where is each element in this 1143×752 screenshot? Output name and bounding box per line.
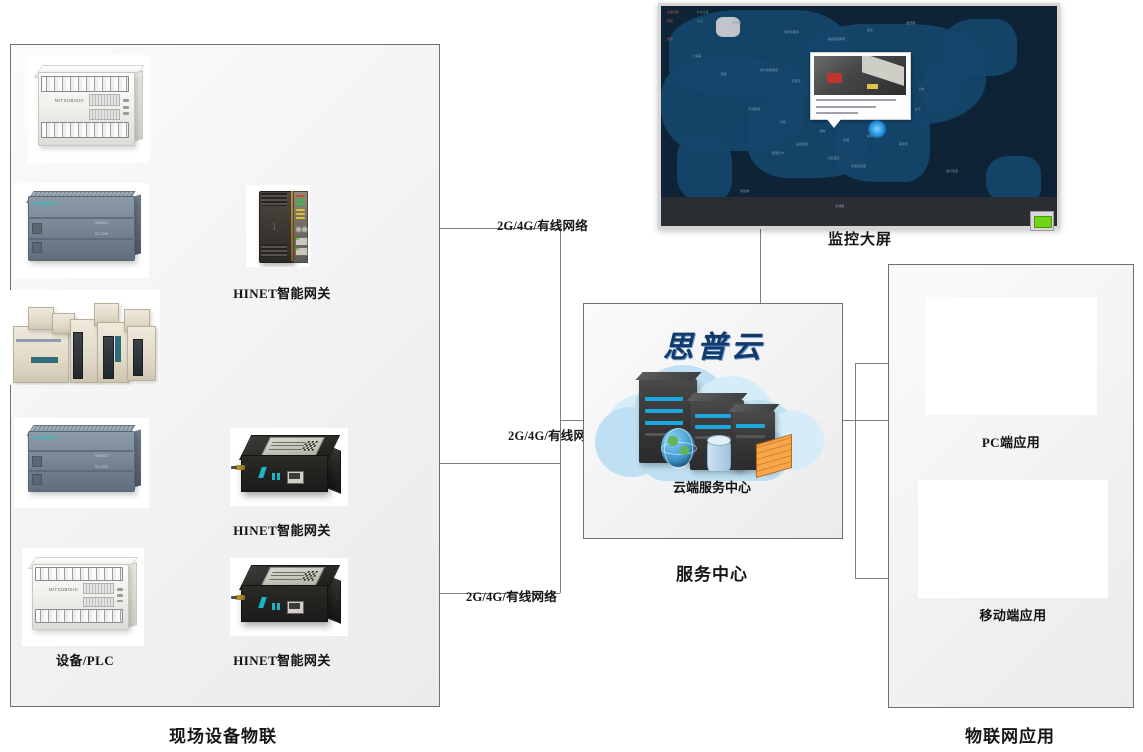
map-label: 伊朗: [720, 72, 726, 76]
map-label: 台湾: [914, 107, 920, 111]
map-label: 菲律宾: [899, 142, 908, 146]
device-photo-thumb: [814, 56, 905, 94]
cloud-brand-logo: 思普云: [655, 322, 773, 366]
gateway-router-bottom: [230, 558, 348, 636]
legend-online: 在线: [697, 19, 703, 23]
device-popup-card[interactable]: [810, 52, 911, 120]
monitoring-big-screen[interactable]: 设备总数 在线设备 离线 在线 报警 俄罗斯 哈萨克斯坦 乌兹别克斯坦 蒙古 俄…: [658, 3, 1060, 229]
map-label: 阿富汗: [792, 79, 801, 83]
map-label: 土耳其: [693, 54, 702, 58]
map-label: 俄罗斯: [907, 21, 916, 25]
legend-alarm: 报警: [667, 37, 673, 41]
device-plc-mitsubishi-bottom: MITSUBISHI: [22, 548, 144, 646]
device-plc-siemens-top: SIEMENS SIMATIC S7-1200: [14, 183, 149, 278]
diagram-canvas: MITSUBISHI SIEMENS SIMATIC S7-1200: [0, 0, 1143, 752]
legend-offline: 离线: [667, 19, 673, 23]
screen-bottom-strip: [661, 197, 1057, 226]
link-apps-vertical: [855, 363, 856, 578]
gateway-din-rail: 1: [246, 185, 310, 267]
map-label: 斯里兰卡: [772, 151, 784, 155]
map-label: 吉尔吉斯斯坦: [760, 68, 778, 72]
landmass-japan: [922, 63, 962, 111]
legend-device-total: 设备总数: [667, 10, 679, 14]
network-label-top: 2G/4G/有线网络: [497, 215, 588, 234]
map-label: 乌兹别克斯坦: [827, 37, 845, 41]
app-pc-illustration: [925, 297, 1097, 415]
gateway-router-bottom-label: HINET智能网关: [198, 650, 366, 669]
app-mobile-label: 移动端应用: [918, 605, 1108, 624]
gateway-router-mid-label: HINET智能网关: [198, 520, 366, 539]
app-pc-label: PC端应用: [925, 432, 1097, 451]
gateway-din-rail-label: HINET智能网关: [198, 283, 366, 302]
panel-field-caption: 现场设备物联: [78, 722, 368, 747]
landmass-africa-horn: [677, 134, 732, 200]
map-label: 蒙古: [867, 28, 873, 32]
device-servo-rack: [10, 290, 160, 385]
legend-device-online: 在线设备: [697, 10, 709, 14]
cloud-datacenter-label: 云端服务中心: [632, 477, 792, 496]
map-label: 印度: [780, 120, 786, 124]
map-label: 缅甸: [819, 129, 825, 133]
map-label: 哈萨克斯坦: [784, 30, 799, 34]
panel-apps-caption: 物联网应用: [890, 722, 1130, 747]
app-mobile-illustration: [918, 480, 1108, 598]
map-label: 巴基斯坦: [748, 107, 760, 111]
map-label: 澳大利亚: [946, 169, 958, 173]
map-label: 新加坡: [740, 189, 749, 193]
device-plc-mitsubishi-top: MITSUBISHI: [28, 55, 150, 163]
device-marker-dot[interactable]: [867, 120, 887, 138]
map-label: 泰国: [843, 138, 849, 142]
screen-status-badge: [1030, 211, 1054, 231]
map-label: 日本: [918, 87, 924, 91]
gateway-router-mid: [230, 428, 348, 506]
link-top-down-to-cloud: [560, 228, 561, 420]
map-label: 柬埔寨: [835, 204, 844, 208]
monitoring-screen-label: 监控大屏: [790, 228, 930, 249]
panel-service-caption: 服务中心: [592, 560, 832, 585]
map-label: 孟加拉国: [796, 142, 808, 146]
map-label: 印度尼西亚: [851, 164, 866, 168]
map-label: 马来西亚: [827, 156, 839, 160]
link-bottom-vertical: [560, 420, 561, 593]
device-plc-label: 设备/PLC: [10, 650, 160, 669]
legend-shape: [716, 17, 740, 37]
network-label-bottom: 2G/4G/有线网络: [466, 586, 557, 605]
device-plc-siemens-mid: SIEMENS SIMATIC S7-1200: [14, 418, 149, 508]
map-label: 俄罗斯: [732, 21, 741, 25]
